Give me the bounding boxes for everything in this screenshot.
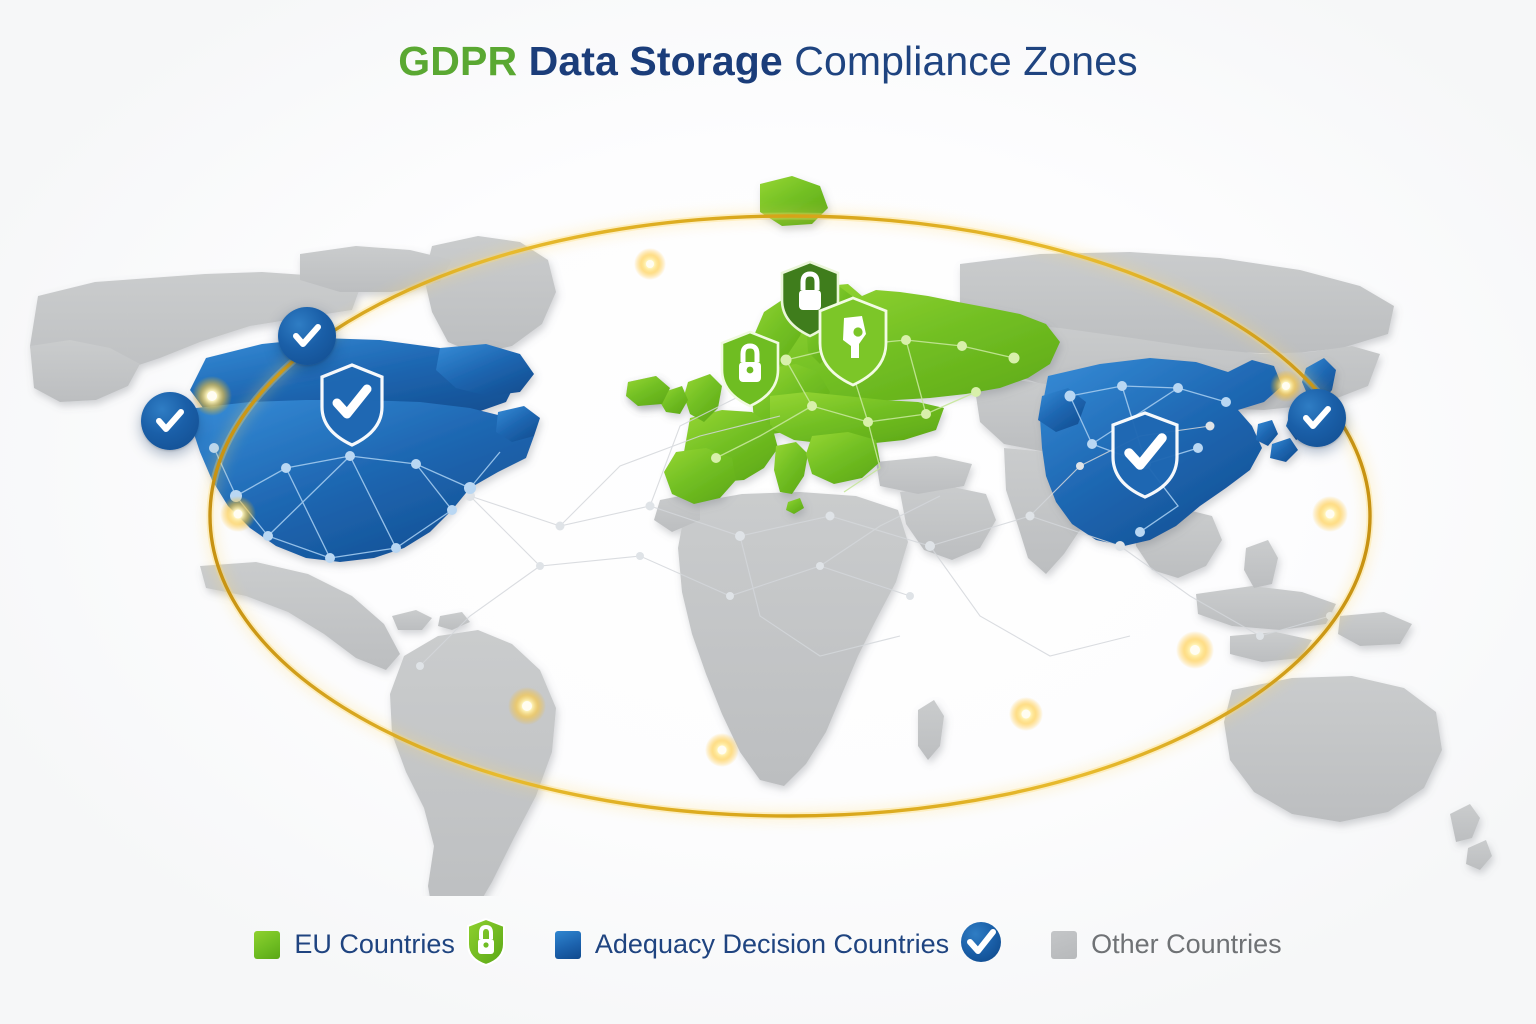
check-icon (290, 319, 324, 353)
title-data-storage: Data Storage (529, 38, 783, 84)
legend-swatch-eu-green (254, 931, 280, 959)
legend-label-other-countries: Other Countries (1091, 929, 1282, 960)
check-icon (153, 404, 187, 438)
page-title: GDPR Data Storage Compliance Zones (0, 38, 1536, 85)
legend: EU Countries Adequacy Decision (0, 917, 1536, 972)
title-compliance-zones: Compliance Zones (794, 38, 1137, 84)
legend-item-other-countries[interactable]: Other Countries (1051, 929, 1282, 960)
world-map (0, 96, 1536, 896)
legend-item-adequacy-decision-countries[interactable]: Adequacy Decision Countries (555, 920, 1003, 969)
shield-lock-icon (465, 917, 507, 972)
check-icon (1300, 401, 1334, 435)
check-circle-icon (959, 920, 1003, 969)
legend-label-adequacy-decision-countries: Adequacy Decision Countries (595, 929, 949, 960)
title-gdpr: GDPR (398, 38, 517, 84)
legend-item-eu-countries[interactable]: EU Countries (254, 917, 507, 972)
infographic-canvas: GDPR Data Storage Compliance Zones (0, 0, 1536, 1024)
marker-check-japan[interactable] (1288, 389, 1346, 447)
legend-swatch-other-grey (1051, 931, 1077, 959)
marker-check-pacific-northwest[interactable] (141, 392, 199, 450)
legend-swatch-adequacy-blue (555, 931, 581, 959)
world-map-svg (0, 96, 1536, 896)
marker-check-canada[interactable] (278, 307, 336, 365)
legend-label-eu-countries: EU Countries (294, 929, 455, 960)
